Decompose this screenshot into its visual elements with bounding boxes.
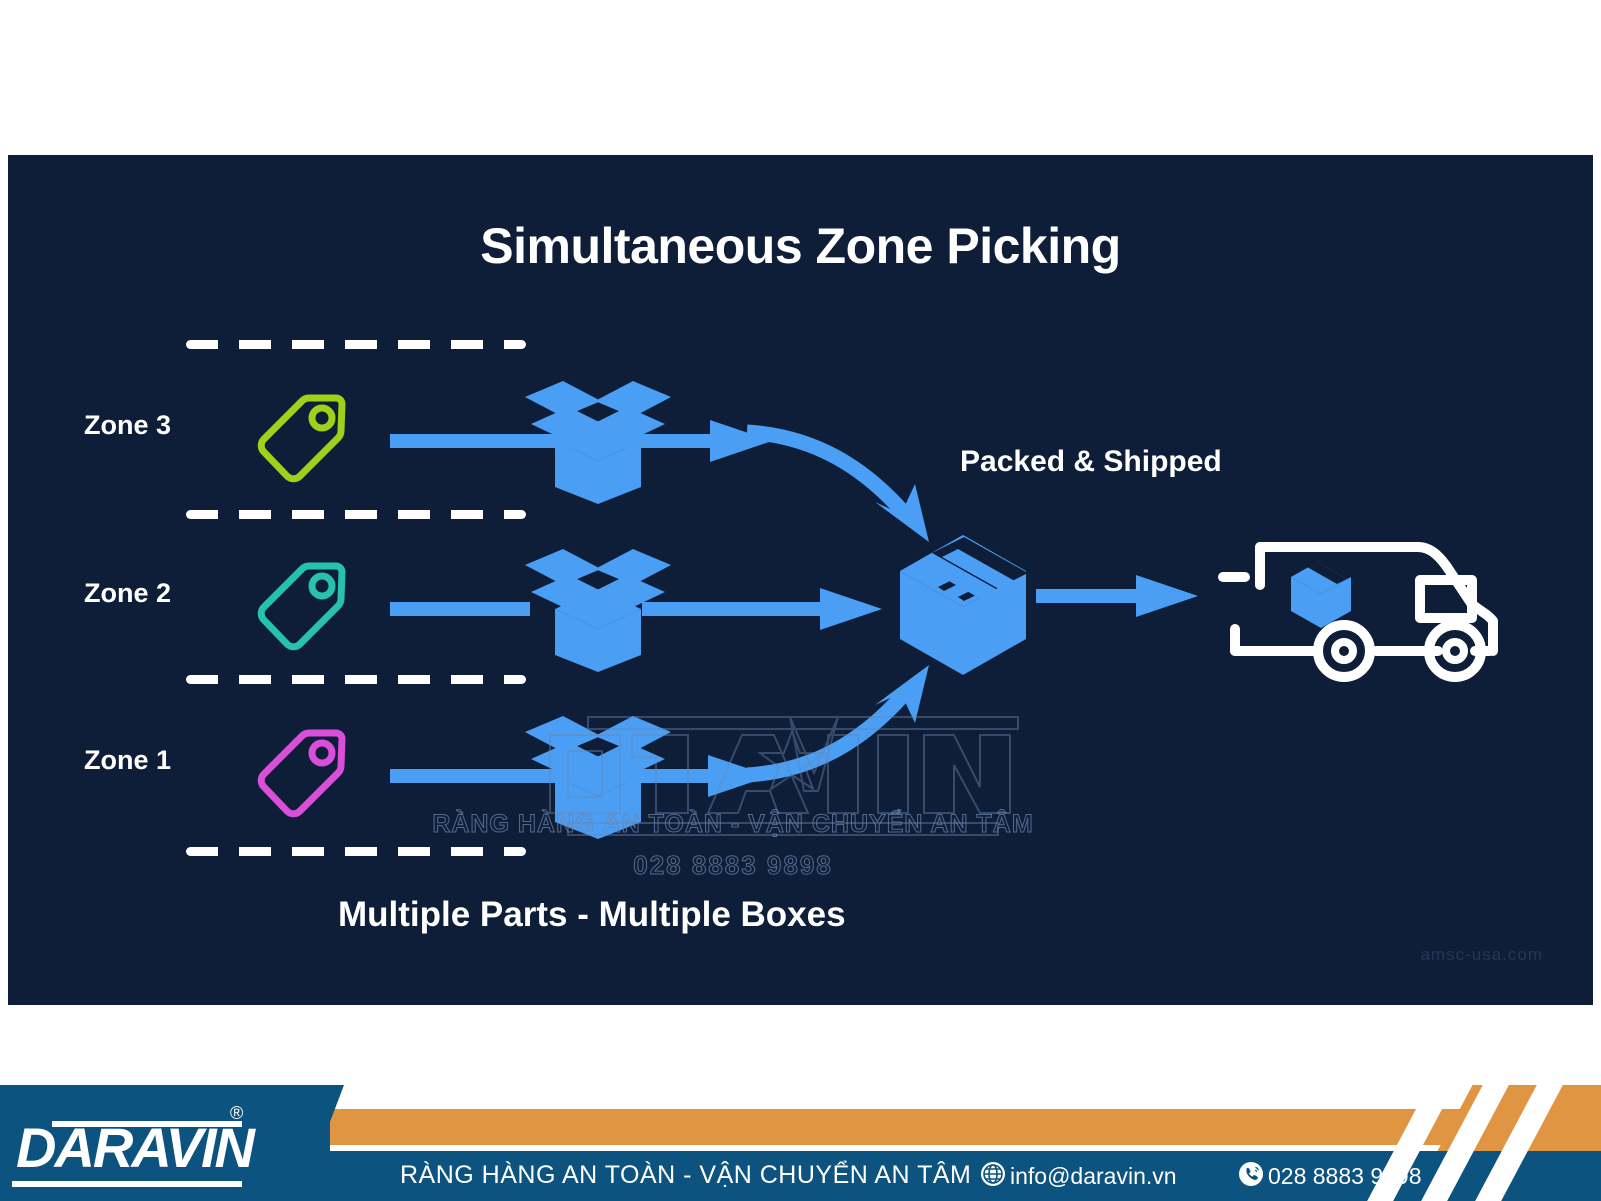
infographic-page: Simultaneous Zone Picking Zone 3 — [0, 0, 1601, 1201]
zone-divider-top — [186, 340, 526, 349]
bottom-caption: Multiple Parts - Multiple Boxes — [338, 895, 846, 935]
zone-picking-panel: Simultaneous Zone Picking Zone 3 — [8, 155, 1593, 1005]
watermark-tagline: RÀNG HÀNG AN TOÀN - VẬN CHUYỂN AN TÂM — [413, 810, 1053, 839]
watermark-phone: 028 8883 9898 — [413, 850, 1053, 881]
footer-phone[interactable]: 028 8883 9898 — [1268, 1163, 1422, 1190]
zone-label-2: Zone 2 — [84, 578, 171, 609]
footer-email[interactable]: info@daravin.vn — [1010, 1163, 1177, 1190]
zone-label-1: Zone 1 — [84, 745, 171, 776]
source-watermark: amsc-usa.com — [1420, 945, 1543, 965]
phone-icon — [1238, 1161, 1264, 1192]
closed-box-icon — [888, 523, 1038, 688]
footer-bar: DARAVIN ® RÀNG HÀNG AN TOÀN - VẬN CHUYỂN… — [0, 1085, 1601, 1201]
packed-shipped-label: Packed & Shipped — [960, 445, 1222, 479]
price-tag-icon-zone2 — [246, 545, 356, 660]
page-title: Simultaneous Zone Picking — [8, 217, 1593, 275]
open-box-icon-zone2 — [513, 537, 683, 677]
delivery-truck-icon — [1213, 525, 1513, 690]
logo-rule-bottom — [12, 1181, 242, 1187]
footer-logo-block: DARAVIN ® — [0, 1085, 330, 1201]
price-tag-icon-zone3 — [246, 377, 356, 492]
registered-mark: ® — [230, 1103, 243, 1124]
globe-icon — [980, 1161, 1006, 1192]
price-tag-icon-zone1 — [246, 712, 356, 827]
zone-label-3: Zone 3 — [84, 410, 171, 441]
open-box-icon-zone3 — [513, 369, 683, 509]
brand-logo-text: DARAVIN — [16, 1115, 253, 1180]
arrow-right-icon-final — [1036, 573, 1206, 624]
footer-tagline: RÀNG HÀNG AN TOÀN - VẬN CHUYỂN AN TÂM — [400, 1161, 971, 1190]
